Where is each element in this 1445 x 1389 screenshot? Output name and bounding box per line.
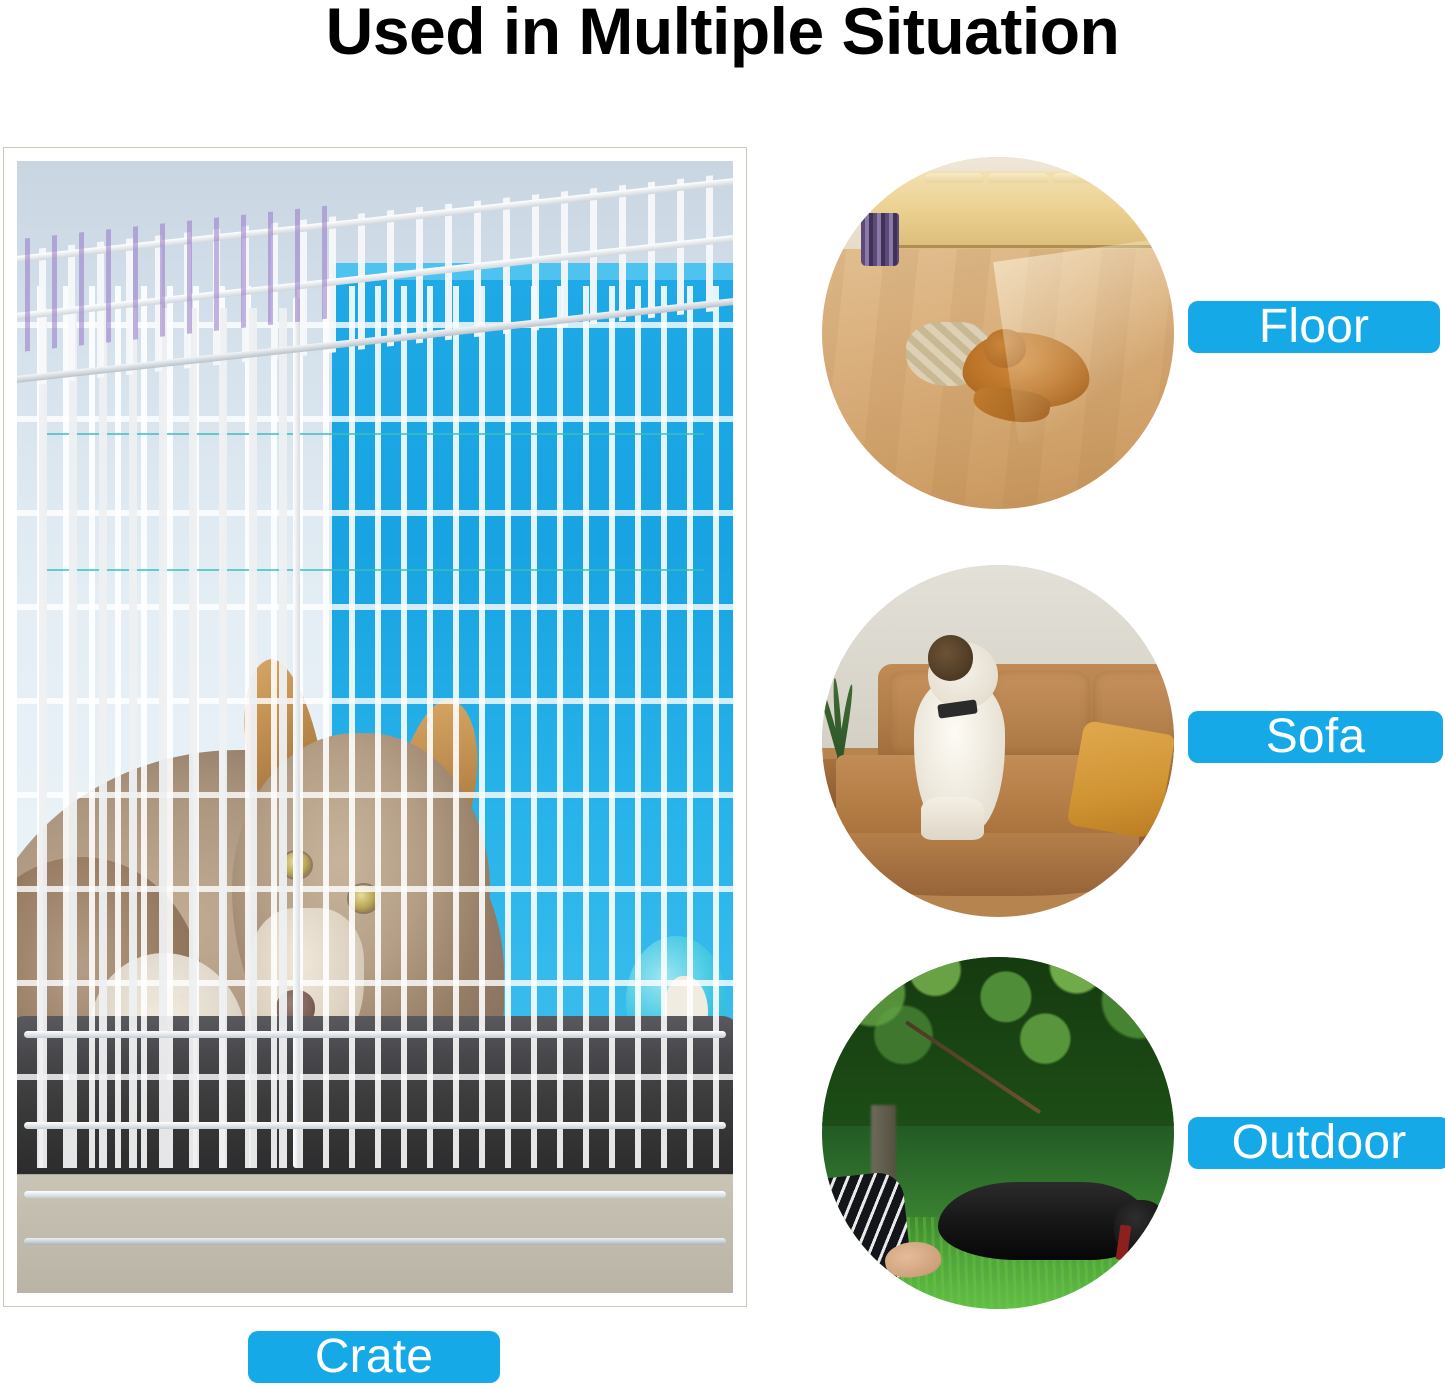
crate-photo [17, 161, 733, 1293]
crate-photo-frame [3, 147, 747, 1307]
floor-scene [822, 157, 1174, 509]
crate-base-frame [24, 1238, 726, 1245]
sofa-dog-legs [921, 797, 984, 839]
mustard-pillow [1067, 720, 1174, 840]
badge-crate: Crate [248, 1331, 500, 1383]
badge-floor: Floor [1188, 301, 1440, 353]
badge-sofa: Sofa [1188, 711, 1443, 763]
sofa-dog-ear [928, 635, 974, 681]
thumbnail-outdoor [822, 957, 1174, 1309]
thumbnail-floor [822, 157, 1174, 509]
floor-sofa-cushion [1117, 173, 1164, 183]
outdoor-scene [822, 957, 1174, 1309]
crate-bottom-rail-3 [24, 1191, 726, 1198]
sofa-front-cushion [829, 833, 1146, 896]
crate-bottom-rail-2 [24, 1122, 726, 1129]
badge-outdoor: Outdoor [1188, 1117, 1445, 1169]
thumbnail-sofa [822, 565, 1174, 917]
crate-door-panel [17, 308, 296, 1168]
floor-sofa [871, 171, 1167, 248]
floor-striped-bin [861, 213, 900, 266]
floor-sofa-cushion [924, 173, 983, 183]
floor-sofa-cushion [987, 173, 1049, 183]
sofa-back-cushion [991, 671, 1090, 755]
sofa-scene [822, 565, 1174, 917]
crate-bottom-rail-1 [24, 1031, 726, 1038]
page-title: Used in Multiple Situation [0, 0, 1445, 70]
floor-sunlight [993, 237, 1174, 443]
tree-canopy [822, 957, 1174, 1126]
floor-sofa-cushion [1052, 173, 1114, 183]
